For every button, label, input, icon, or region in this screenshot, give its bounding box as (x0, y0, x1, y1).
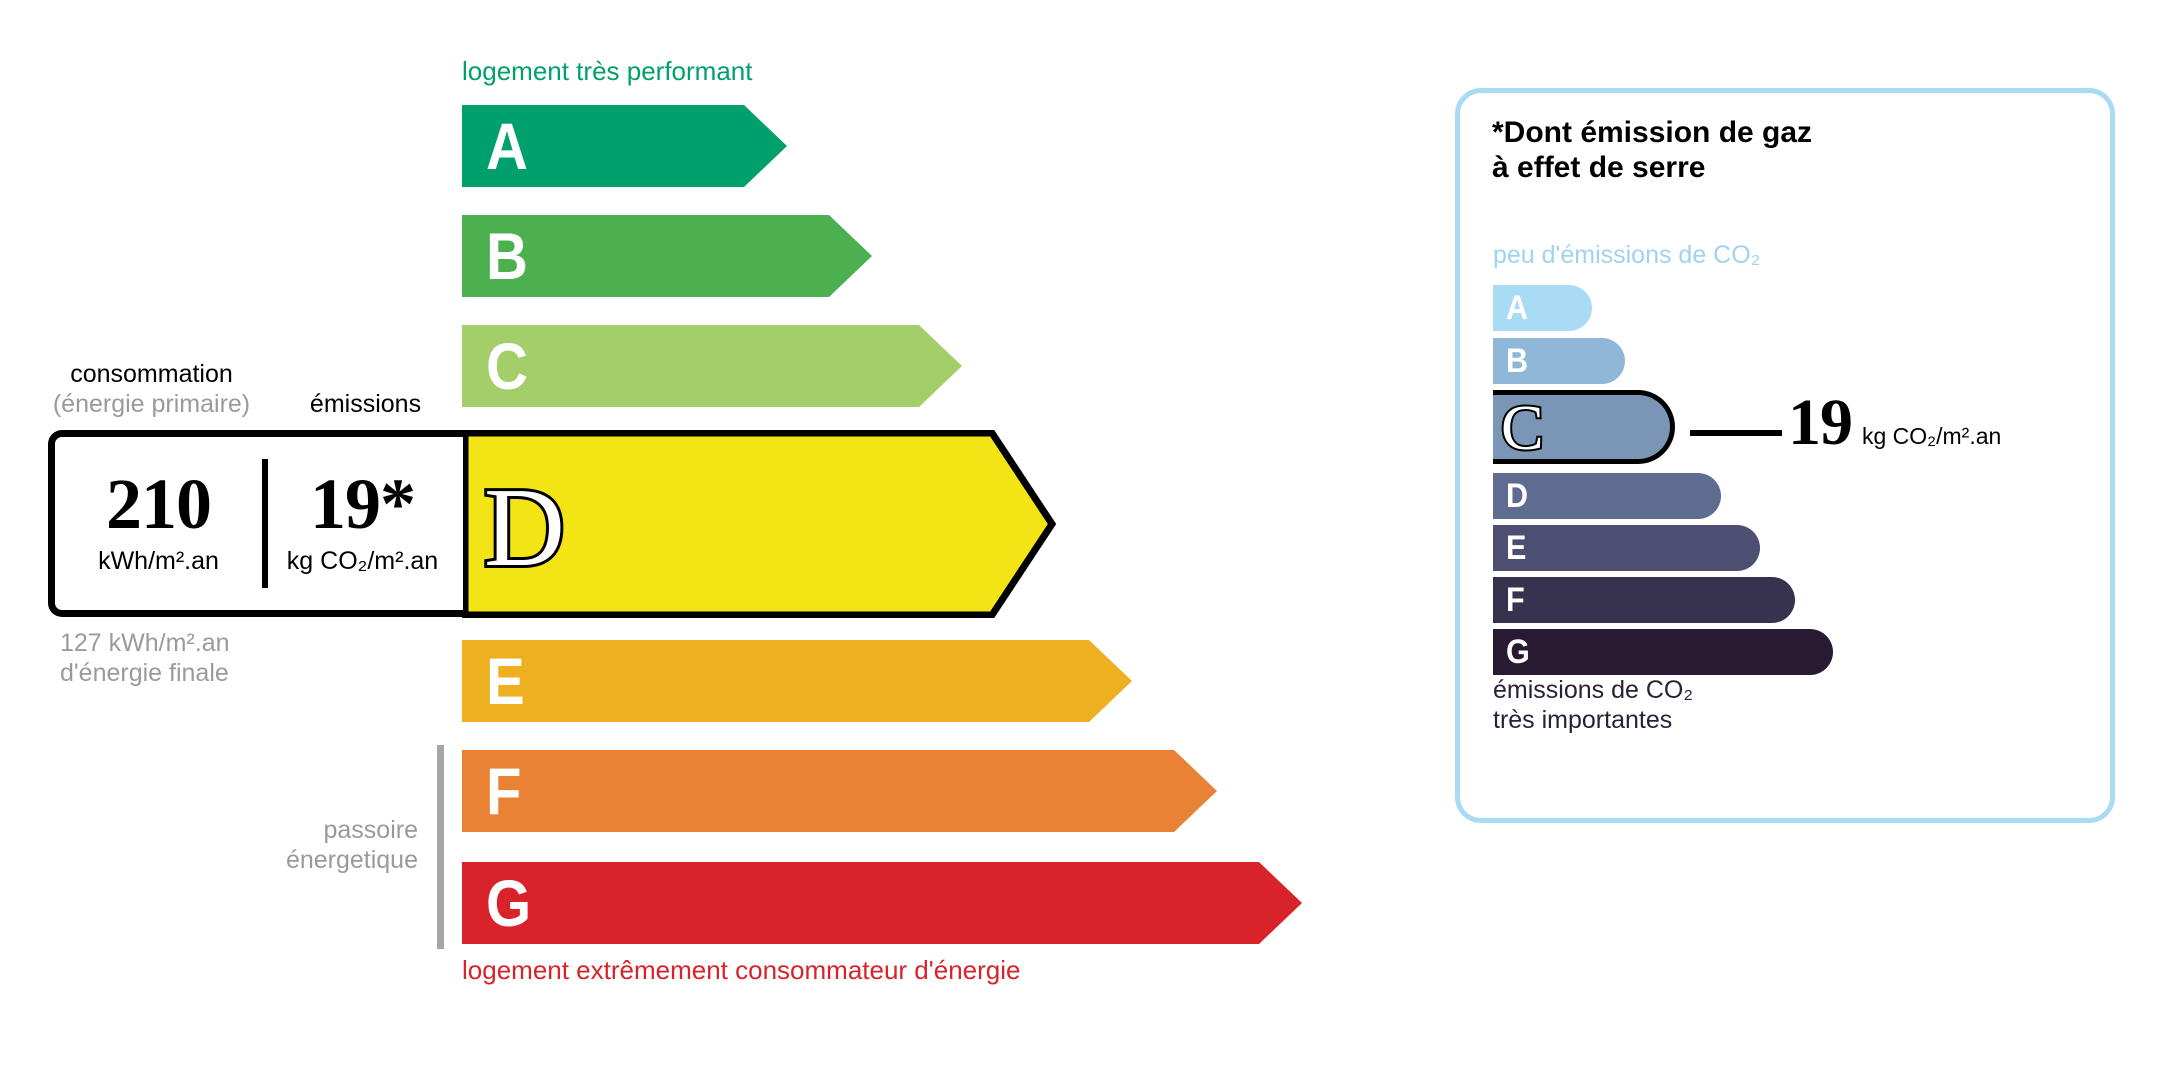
co2-readout: 19 kg CO₂/m².an (1788, 390, 2001, 456)
co2-band-letter-f: F (1506, 577, 1525, 623)
co2-band-f[interactable]: F (1493, 577, 1795, 623)
energy-band-d-selected[interactable]: D (462, 430, 1057, 618)
energy-band-letter-d: D (484, 430, 565, 618)
co2-band-letter-a: A (1506, 285, 1528, 331)
energy-bottom-caption: logement extrêmement consommateur d'éner… (462, 955, 1020, 986)
energy-band-letter-e: E (486, 640, 525, 722)
arrow-shape-f (462, 750, 1217, 832)
energy-band-letter-f: F (486, 750, 521, 832)
co2-bottom-line-2: très importantes (1493, 706, 1672, 734)
arrow-shape-g (462, 862, 1302, 944)
co2-band-a[interactable]: A (1493, 285, 1592, 331)
consumption-readout: 210 kWh/m².an (55, 437, 262, 610)
passoire-energetique-label: passoire énergetique (200, 815, 418, 875)
energy-band-f[interactable]: F (462, 750, 1217, 832)
co2-emissions-panel: *Dont émission de gaz à effet de serre p… (1455, 88, 2115, 823)
co2-bottom-caption: émissions de CO₂ très importantes (1493, 675, 1693, 735)
energy-band-c[interactable]: C (462, 325, 962, 407)
co2-bottom-line-1: émissions de CO₂ (1493, 676, 1693, 704)
co2-band-c-selected[interactable]: C (1493, 390, 1675, 464)
consumption-label: consommation (énergie primaire) (48, 360, 255, 419)
emissions-label: émissions (268, 390, 463, 419)
arrow-shape-e (462, 640, 1132, 722)
final-energy-label: 127 kWh/m².an d'énergie finale (60, 628, 230, 688)
co2-band-b[interactable]: B (1493, 338, 1625, 384)
value-readout-box: 210 kWh/m².an 19* kg CO₂/m².an (48, 430, 463, 617)
co2-readout-value: 19 (1788, 390, 1852, 456)
co2-title-line-2: à effet de serre (1492, 151, 1705, 184)
energy-band-letter-b: B (486, 215, 528, 297)
consumption-value: 210 (106, 471, 211, 539)
co2-readout-unit: kg CO₂/m².an (1862, 423, 2001, 450)
consumption-label-sub: (énergie primaire) (48, 390, 255, 420)
energy-band-letter-c: C (486, 325, 528, 407)
energy-band-a[interactable]: A (462, 105, 787, 187)
final-energy-line-2: d'énergie finale (60, 659, 229, 687)
co2-band-e[interactable]: E (1493, 525, 1760, 571)
emissions-value: 19* (310, 471, 415, 539)
co2-leader-line (1690, 430, 1782, 436)
passoire-line-2: énergetique (286, 846, 418, 874)
consumption-unit: kWh/m².an (98, 547, 219, 576)
emissions-unit: kg CO₂/m².an (287, 547, 438, 576)
emissions-readout: 19* kg CO₂/m².an (262, 437, 463, 610)
co2-band-d[interactable]: D (1493, 473, 1721, 519)
co2-band-letter-b: B (1506, 338, 1528, 384)
energy-performance-chart: logement très performant A B C D E (0, 0, 1400, 1079)
passoire-energetique-bracket (437, 745, 444, 949)
co2-band-letter-g: G (1506, 629, 1530, 675)
co2-band-g[interactable]: G (1493, 629, 1833, 675)
energy-band-b[interactable]: B (462, 215, 872, 297)
energy-top-caption: logement très performant (462, 56, 752, 87)
co2-bar-f (1493, 577, 1795, 623)
energy-band-g[interactable]: G (462, 862, 1302, 944)
co2-band-letter-e: E (1506, 525, 1526, 571)
passoire-line-1: passoire (324, 816, 419, 844)
co2-band-letter-d: D (1506, 473, 1528, 519)
arrow-shape-c (462, 325, 962, 407)
co2-bar-g (1493, 629, 1833, 675)
final-energy-line-1: 127 kWh/m².an (60, 629, 230, 657)
co2-title-line-1: *Dont émission de gaz (1492, 116, 1812, 149)
co2-band-letter-c: C (1501, 390, 1544, 436)
energy-band-e[interactable]: E (462, 640, 1132, 722)
co2-bar-e (1493, 525, 1760, 571)
co2-panel-title: *Dont émission de gaz à effet de serre (1492, 115, 1812, 186)
consumption-label-main: consommation (70, 360, 233, 388)
energy-band-letter-g: G (486, 862, 531, 944)
energy-band-letter-a: A (486, 105, 528, 187)
co2-top-caption: peu d'émissions de CO₂ (1493, 241, 1760, 270)
